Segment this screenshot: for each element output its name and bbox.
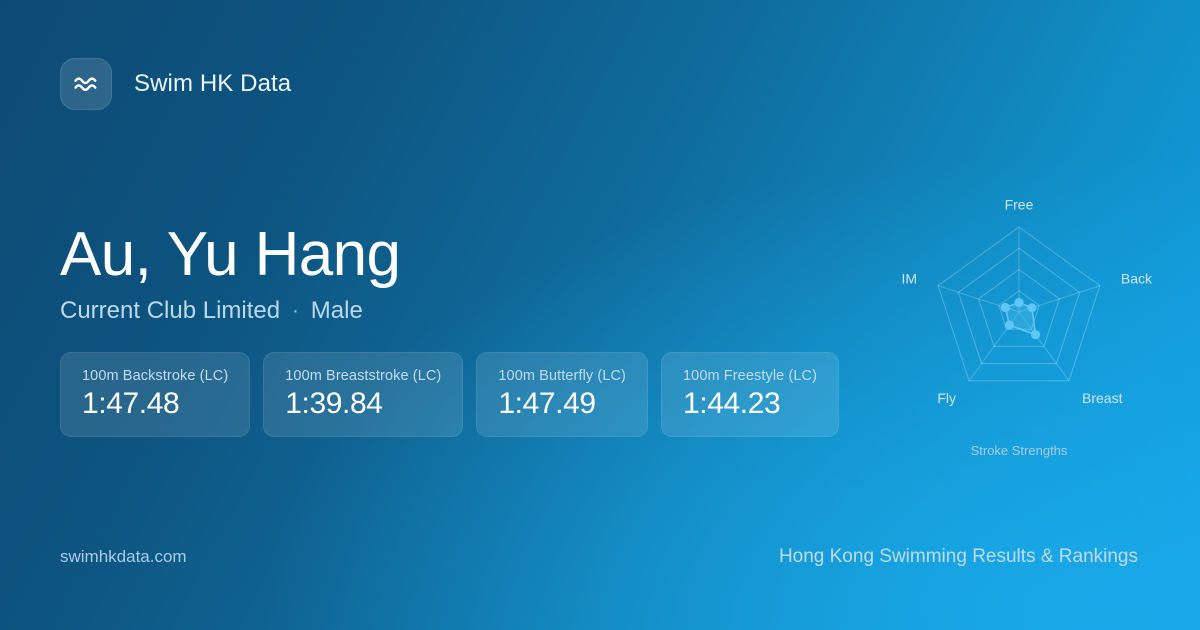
athlete-club: Current Club Limited: [60, 297, 280, 325]
stat-card: 100m Backstroke (LC) 1:47.48: [60, 352, 250, 437]
footer-tagline: Hong Kong Swimming Results & Rankings: [779, 546, 1138, 568]
stat-label: 100m Backstroke (LC): [82, 368, 228, 384]
radar-axis-labels: FreeBackBreastFlyIM: [902, 196, 1153, 406]
radar-axis-label-fly: Fly: [937, 390, 956, 406]
radar-axis-label-breast: Breast: [1082, 390, 1123, 406]
brand-lockup: Swim HK Data: [60, 58, 291, 110]
radar-data-point: [1031, 330, 1040, 339]
stat-value: 1:39.84: [285, 389, 441, 420]
radar-axis-label-free: Free: [1005, 196, 1034, 212]
radar-axis-label-im: IM: [902, 270, 918, 286]
stat-value: 1:44.23: [683, 389, 817, 420]
radar-axis-label-back: Back: [1121, 270, 1153, 286]
stat-label: 100m Freestyle (LC): [683, 368, 817, 384]
stat-label: 100m Butterfly (LC): [498, 368, 626, 384]
stat-card: 100m Breaststroke (LC) 1:39.84: [263, 352, 463, 437]
stat-label: 100m Breaststroke (LC): [285, 368, 441, 384]
brand-name: Swim HK Data: [134, 70, 291, 98]
og-share-card: Swim HK Data Au, Yu Hang Current Club Li…: [0, 0, 1200, 630]
footer-site: swimhkdata.com: [60, 547, 187, 567]
athlete-gender: Male: [311, 297, 363, 325]
radar-data-point: [1001, 303, 1010, 312]
radar-data-point: [1014, 298, 1023, 307]
stroke-strengths-radar-chart: FreeBackBreastFlyIM Stroke Strengths: [869, 170, 1169, 470]
waves-icon: [60, 58, 112, 110]
radar-data-point: [1005, 320, 1014, 329]
athlete-meta: Current Club Limited · Male: [60, 297, 363, 325]
meta-separator: ·: [292, 300, 299, 323]
stat-card: 100m Butterfly (LC) 1:47.49: [476, 352, 648, 437]
page-title: Au, Yu Hang: [60, 222, 400, 288]
stat-card: 100m Freestyle (LC) 1:44.23: [661, 352, 839, 437]
stat-value: 1:47.48: [82, 389, 228, 420]
chart-caption: Stroke Strengths: [971, 443, 1068, 458]
best-times-row: 100m Backstroke (LC) 1:47.48 100m Breast…: [60, 352, 839, 437]
radar-data-point: [1027, 303, 1036, 312]
stat-value: 1:47.49: [498, 389, 626, 420]
